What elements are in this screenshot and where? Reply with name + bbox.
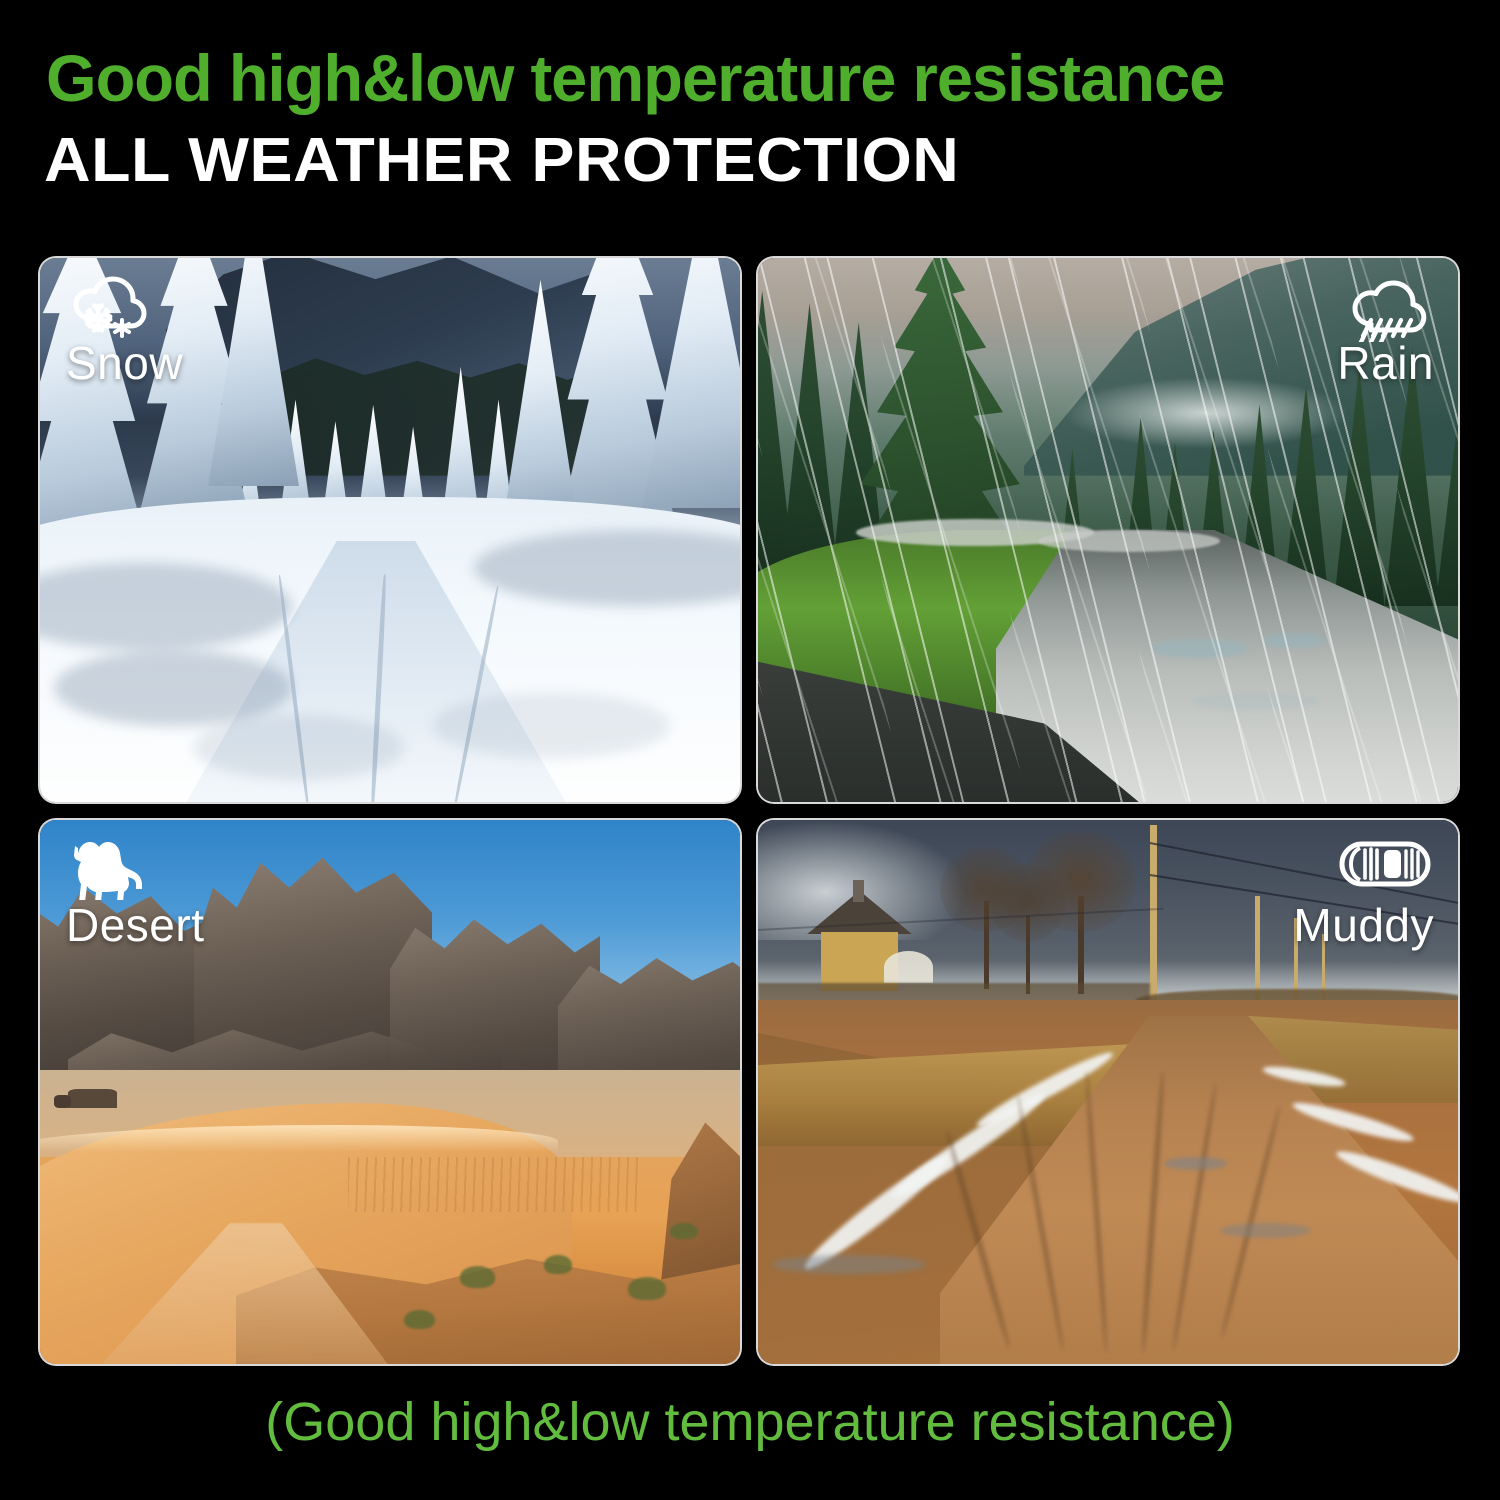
camel-icon [64, 838, 204, 904]
footer-caption: (Good high&low temperature resistance) [0, 1392, 1500, 1452]
boot-print-icon [1293, 838, 1434, 904]
panel-label-text: Muddy [1293, 900, 1434, 950]
panel-label-text: Rain [1337, 338, 1434, 388]
panel-label-desert: Desert [64, 838, 204, 950]
panel-label-muddy: Muddy [1293, 838, 1434, 950]
weather-panel-rain[interactable]: Rain [758, 258, 1458, 802]
weather-panel-muddy[interactable]: Muddy [758, 820, 1458, 1364]
page-subheadline: ALL WEATHER PROTECTION [44, 128, 959, 194]
page-headline: Good high&low temperature resistance [46, 44, 1445, 112]
panel-label-text: Snow [66, 338, 183, 388]
weather-panel-snow[interactable]: Snow [40, 258, 740, 802]
all-weather-protection-banner: Good high&low temperature resistance ALL… [0, 0, 1500, 1500]
panel-label-text: Desert [66, 900, 204, 950]
cloud-rain-icon [1337, 276, 1434, 342]
panel-label-rain: Rain [1337, 276, 1434, 388]
weather-panel-desert[interactable]: Desert [40, 820, 740, 1364]
panel-label-snow: Snow [64, 276, 183, 388]
weather-panel-grid: Snow [40, 258, 1460, 1364]
cloud-snow-icon [64, 276, 183, 342]
